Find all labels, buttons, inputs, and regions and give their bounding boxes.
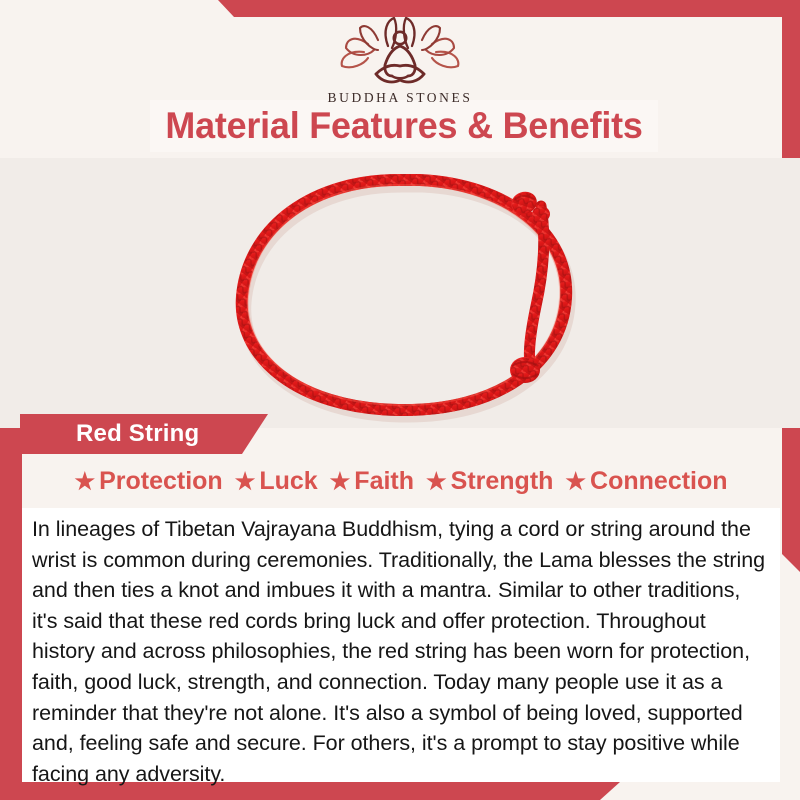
star-icon: ★ xyxy=(565,470,586,493)
decor-band-top xyxy=(218,0,800,17)
lotus-meditation-icon xyxy=(334,16,466,88)
star-icon: ★ xyxy=(74,470,95,493)
benefit-item-strength: ★ Strength xyxy=(426,467,553,496)
benefit-label: Protection xyxy=(99,467,223,496)
benefit-label: Connection xyxy=(590,467,728,496)
benefit-label: Strength xyxy=(451,467,554,496)
benefit-item-connection: ★ Connection xyxy=(565,467,727,496)
benefit-item-luck: ★ Luck xyxy=(235,467,318,496)
benefit-item-protection: ★ Protection xyxy=(74,467,222,496)
star-icon: ★ xyxy=(235,470,256,493)
section-ribbon-label: Red String xyxy=(76,420,199,448)
description-paragraph: In lineages of Tibetan Vajrayana Buddhis… xyxy=(32,514,768,789)
description-block: In lineages of Tibetan Vajrayana Buddhis… xyxy=(22,508,780,782)
product-photo xyxy=(0,158,800,428)
benefit-item-faith: ★ Faith xyxy=(330,467,414,496)
benefit-label: Faith xyxy=(354,467,414,496)
title-banner: Material Features & Benefits xyxy=(150,100,658,152)
brand-logo: BUDDHA STONES xyxy=(0,16,800,106)
page-title: Material Features & Benefits xyxy=(165,105,642,147)
red-string-bracelet-illustration xyxy=(0,158,800,428)
infographic-page: BUDDHA STONES Material Features & Benefi… xyxy=(0,0,800,800)
benefits-list: ★ Protection ★ Luck ★ Faith ★ Strength ★… xyxy=(22,454,780,508)
star-icon: ★ xyxy=(330,470,351,493)
star-icon: ★ xyxy=(426,470,447,493)
benefit-label: Luck xyxy=(259,467,317,496)
section-ribbon: Red String xyxy=(20,414,268,454)
brand-wordmark: BUDDHA STONES xyxy=(0,90,800,106)
